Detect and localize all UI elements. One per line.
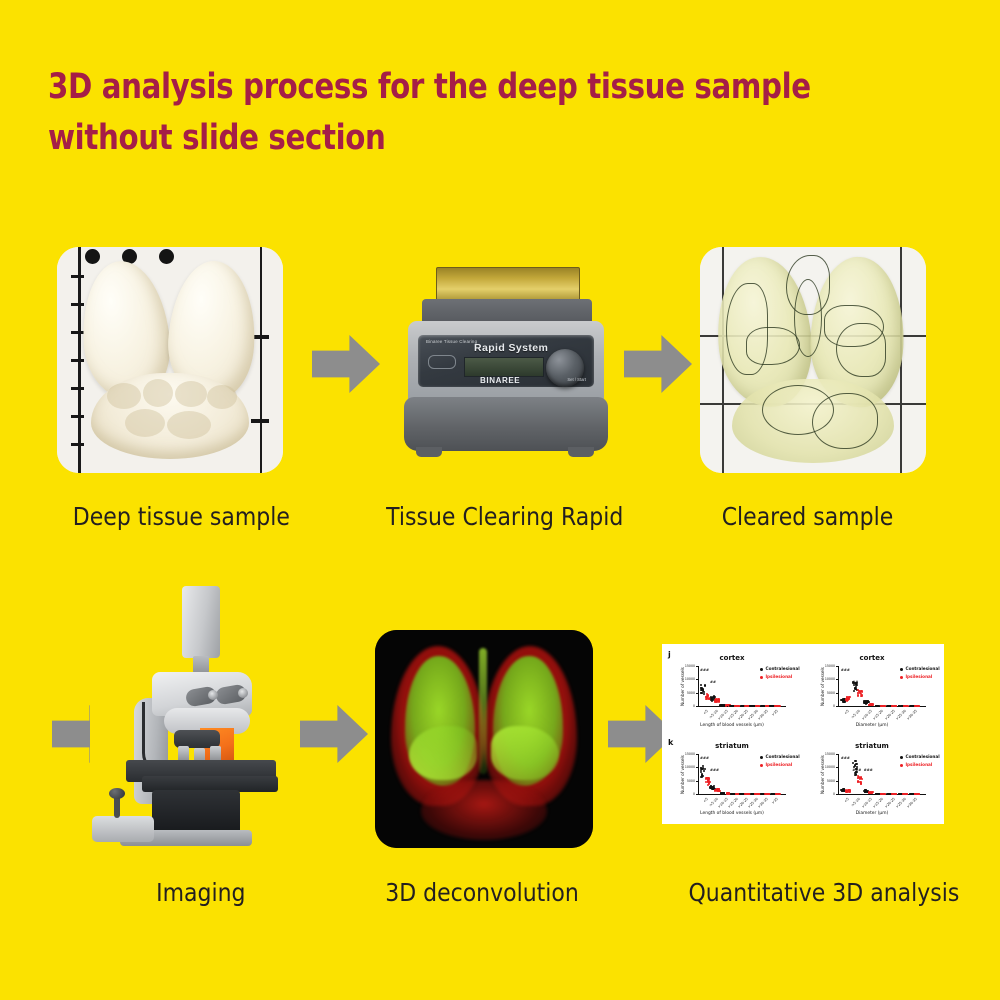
page-title: 3D analysis process for the deep tissue … bbox=[48, 62, 885, 164]
data-point bbox=[881, 705, 883, 707]
data-point bbox=[779, 705, 781, 707]
legend-color-swatch bbox=[760, 756, 763, 759]
legend-label: Ipsilesional bbox=[906, 674, 933, 679]
data-point bbox=[880, 793, 882, 795]
panel-deep-tissue-sample bbox=[57, 247, 283, 473]
data-point bbox=[904, 705, 906, 707]
data-point bbox=[776, 793, 778, 795]
data-point bbox=[716, 700, 718, 702]
data-point bbox=[857, 780, 859, 782]
chart-title: cortex bbox=[672, 654, 792, 662]
data-point bbox=[701, 773, 703, 775]
panel-tissue-clearing-device: Binaree Tissue Clearing Rapid System BIN… bbox=[392, 247, 618, 473]
device-body: Binaree Tissue Clearing Rapid System BIN… bbox=[408, 321, 604, 401]
device-amber-lid bbox=[436, 267, 580, 303]
legend-color-swatch bbox=[760, 668, 763, 671]
title-line-1: 3D analysis process for the deep tissue … bbox=[48, 62, 885, 113]
caption-quantitative-analysis: Quantitative 3D analysis bbox=[688, 878, 959, 907]
legend-label: Ipsilesional bbox=[766, 762, 793, 767]
flow-arrow-1 bbox=[312, 335, 380, 393]
y-tick-mark bbox=[696, 767, 698, 768]
cerebellar-lobule bbox=[107, 383, 141, 409]
caption-tissue-clearing-rapid: Tissue Clearing Rapid bbox=[386, 502, 623, 531]
device-control-panel: Binaree Tissue Clearing Rapid System BIN… bbox=[418, 335, 594, 387]
data-point bbox=[918, 793, 920, 795]
significance-marker: ### bbox=[841, 668, 850, 672]
data-point bbox=[701, 687, 703, 689]
vessel-trace bbox=[726, 283, 768, 375]
caption-cleared-sample: Cleared sample bbox=[722, 502, 894, 531]
title-line-2: without slide section bbox=[48, 113, 885, 164]
legend-item: Contralesional bbox=[900, 666, 940, 671]
device-indicator-button[interactable] bbox=[428, 355, 456, 369]
microscope-illuminator-housing bbox=[152, 790, 240, 834]
x-axis-label: Length of blood vessels (µm) bbox=[672, 723, 792, 728]
brain-specimen-opaque bbox=[79, 255, 259, 465]
scatter-plot-4: striatum150001000050000Number of vessels… bbox=[812, 740, 932, 816]
device-display-screen bbox=[464, 357, 544, 377]
data-point bbox=[701, 776, 703, 778]
chart-title: cortex bbox=[812, 654, 932, 662]
legend-label: Ipsilesional bbox=[906, 762, 933, 767]
data-point bbox=[765, 793, 767, 795]
data-point bbox=[713, 785, 715, 787]
panel-letter: j bbox=[668, 650, 671, 659]
cerebellum bbox=[91, 373, 249, 459]
legend-color-swatch bbox=[760, 764, 763, 767]
data-point bbox=[756, 793, 758, 795]
significance-marker: ## bbox=[710, 680, 716, 684]
device-foot bbox=[416, 447, 442, 457]
data-point bbox=[872, 791, 874, 793]
data-point bbox=[706, 698, 708, 700]
y-tick-mark bbox=[836, 679, 838, 680]
legend-item: Contralesional bbox=[760, 754, 800, 759]
y-tick-mark bbox=[696, 706, 698, 707]
significance-marker: ### bbox=[700, 668, 709, 672]
data-point bbox=[842, 790, 844, 792]
x-axis-label: Length of blood vessels (µm) bbox=[672, 811, 792, 816]
data-point bbox=[702, 689, 704, 691]
legend-item: Ipsilesional bbox=[900, 762, 932, 767]
data-point bbox=[704, 768, 706, 770]
joystick-knob[interactable] bbox=[109, 788, 125, 799]
legend-item: Contralesional bbox=[900, 754, 940, 759]
microscope-eyepiece-lens bbox=[208, 690, 218, 700]
y-axis bbox=[698, 754, 699, 794]
significance-marker: ### bbox=[852, 768, 861, 772]
device-knob-label: Set / Start bbox=[567, 377, 586, 382]
cerebellar-lobule bbox=[175, 381, 207, 407]
data-point bbox=[711, 700, 713, 702]
data-point bbox=[704, 684, 706, 686]
data-point bbox=[718, 699, 720, 701]
panel-quantitative-analysis: jcortex150001000050000Number of vessels<… bbox=[662, 644, 944, 824]
y-axis bbox=[838, 666, 839, 706]
joystick-controller-base[interactable] bbox=[92, 816, 154, 842]
y-tick-mark bbox=[696, 794, 698, 795]
chart-title: striatum bbox=[672, 742, 792, 750]
scatter-plot-1: jcortex150001000050000Number of vessels<… bbox=[672, 652, 792, 728]
figure-canvas: 3D analysis process for the deep tissue … bbox=[0, 0, 1000, 1000]
data-point bbox=[855, 763, 857, 765]
cerebellar-lobule bbox=[207, 385, 237, 409]
cerebellum-red bbox=[421, 780, 547, 840]
legend-label: Contralesional bbox=[766, 754, 800, 759]
data-point bbox=[905, 793, 907, 795]
device-model-label: Rapid System bbox=[474, 342, 548, 354]
legend-label: Contralesional bbox=[906, 666, 940, 671]
vessel-trace bbox=[836, 323, 886, 377]
green-streak-left bbox=[409, 726, 477, 780]
device-foot bbox=[568, 447, 594, 457]
microscope-illustration bbox=[90, 580, 308, 860]
legend-color-swatch bbox=[900, 756, 903, 759]
flow-arrow-2 bbox=[624, 335, 692, 393]
data-point bbox=[710, 787, 712, 789]
data-point bbox=[884, 705, 886, 707]
legend-item: Ipsilesional bbox=[760, 674, 792, 679]
y-axis-label: Number of vessels bbox=[680, 667, 685, 706]
legend-label: Ipsilesional bbox=[766, 674, 793, 679]
y-tick-mark bbox=[836, 794, 838, 795]
data-point bbox=[847, 697, 849, 699]
chart-title: striatum bbox=[812, 742, 932, 750]
data-point bbox=[705, 777, 707, 779]
panel-3d-deconvolution bbox=[375, 630, 593, 848]
data-point bbox=[771, 793, 773, 795]
deconvolution-image bbox=[375, 630, 593, 848]
y-tick-mark bbox=[836, 781, 838, 782]
data-point bbox=[846, 791, 848, 793]
data-point bbox=[721, 793, 723, 795]
caption-imaging: Imaging bbox=[156, 878, 245, 907]
data-point bbox=[888, 793, 890, 795]
significance-marker: ## bbox=[852, 680, 858, 684]
data-point bbox=[869, 703, 871, 705]
data-point bbox=[748, 793, 750, 795]
legend-color-swatch bbox=[760, 676, 763, 679]
caption-deep-tissue-sample: Deep tissue sample bbox=[73, 502, 290, 531]
midline-green bbox=[479, 648, 487, 774]
y-tick-mark bbox=[696, 679, 698, 680]
data-point bbox=[857, 692, 859, 694]
y-tick-mark bbox=[696, 754, 698, 755]
caption-3d-deconvolution: 3D deconvolution bbox=[385, 878, 579, 907]
data-point bbox=[914, 793, 916, 795]
ruler-axis-right bbox=[260, 247, 263, 473]
flow-arrow-4 bbox=[300, 705, 368, 763]
significance-marker: ### bbox=[841, 756, 850, 760]
y-axis bbox=[838, 754, 839, 794]
y-axis-label: Number of vessels bbox=[680, 755, 685, 794]
y-axis-label: Number of vessels bbox=[820, 755, 825, 794]
microscope-eyepiece-lens bbox=[238, 688, 248, 698]
data-point bbox=[864, 791, 866, 793]
y-tick-mark bbox=[836, 706, 838, 707]
y-tick-mark bbox=[696, 781, 698, 782]
x-axis-label: Diameter (µm) bbox=[812, 811, 932, 816]
x-axis-label: Diameter (µm) bbox=[812, 723, 932, 728]
device-brand-small-text: Binaree Tissue Clearing bbox=[426, 339, 477, 344]
vessel-trace bbox=[812, 393, 878, 449]
legend-color-swatch bbox=[900, 668, 903, 671]
data-point bbox=[703, 770, 705, 772]
scatter-plot-3: kstriatum150001000050000Number of vessel… bbox=[672, 740, 792, 816]
y-axis bbox=[698, 666, 699, 706]
data-point bbox=[702, 765, 704, 767]
legend-item: Ipsilesional bbox=[760, 762, 792, 767]
y-tick-mark bbox=[836, 767, 838, 768]
data-point bbox=[861, 778, 863, 780]
data-point bbox=[727, 792, 729, 794]
legend-label: Contralesional bbox=[766, 666, 800, 671]
y-tick-mark bbox=[696, 666, 698, 667]
microscope-camera bbox=[182, 586, 220, 658]
data-point bbox=[700, 769, 702, 771]
panel-imaging-microscope bbox=[90, 580, 308, 860]
data-point bbox=[857, 695, 859, 697]
data-point bbox=[918, 705, 920, 707]
y-tick-mark bbox=[836, 666, 838, 667]
data-point bbox=[886, 705, 888, 707]
y-axis-label: Number of vessels bbox=[820, 667, 825, 706]
legend-color-swatch bbox=[900, 764, 903, 767]
cerebellar-lobule bbox=[125, 409, 165, 437]
device-logo-text: BINAREE bbox=[480, 376, 520, 385]
panel-cleared-sample bbox=[700, 247, 926, 473]
data-point bbox=[849, 791, 851, 793]
y-tick-mark bbox=[836, 754, 838, 755]
cerebellar-lobule bbox=[167, 411, 211, 439]
legend-item: Ipsilesional bbox=[900, 674, 932, 679]
y-tick-mark bbox=[696, 693, 698, 694]
legend-item: Contralesional bbox=[760, 666, 800, 671]
device-base bbox=[404, 397, 608, 451]
scatter-plot-2: cortex150001000050000Number of vessels<5… bbox=[812, 652, 932, 728]
significance-marker: ### bbox=[700, 756, 709, 760]
data-point bbox=[860, 783, 862, 785]
cerebellar-lobule bbox=[143, 379, 173, 407]
y-tick-mark bbox=[836, 693, 838, 694]
brain-specimen-cleared bbox=[716, 253, 908, 467]
data-point bbox=[853, 690, 855, 692]
significance-marker: ### bbox=[710, 768, 719, 772]
legend-color-swatch bbox=[900, 676, 903, 679]
legend-label: Contralesional bbox=[906, 754, 940, 759]
significance-marker: ### bbox=[864, 768, 873, 772]
